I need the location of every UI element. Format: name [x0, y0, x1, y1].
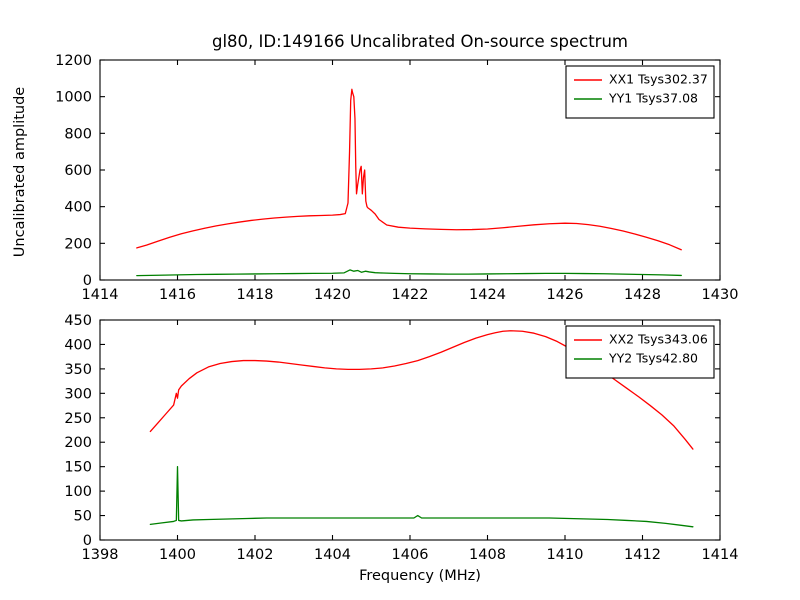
y-tick-label: 0	[83, 273, 92, 289]
x-tick-label: 1404	[314, 547, 351, 563]
plot-canvas: gl80, ID:149166 Uncalibrated On-source s…	[0, 0, 800, 600]
y-tick-label: 250	[64, 411, 92, 427]
legend-label: XX2 Tsys343.06	[609, 332, 708, 347]
x-tick-label: 1420	[314, 287, 351, 303]
x-tick-label: 1430	[702, 287, 739, 303]
y-tick-label: 100	[64, 484, 92, 500]
x-tick-label: 1412	[624, 547, 661, 563]
x-axis-label: Frequency (MHz)	[359, 568, 481, 584]
legend-label: YY1 Tsys37.08	[608, 91, 698, 106]
y-tick-label: 150	[64, 460, 92, 476]
legend-label: XX1 Tsys302.37	[609, 72, 708, 87]
legend-label: YY2 Tsys42.80	[608, 351, 698, 366]
x-tick-label: 1410	[547, 547, 584, 563]
spectrum-figure: gl80, ID:149166 Uncalibrated On-source s…	[0, 0, 800, 600]
y-tick-label: 400	[64, 200, 92, 216]
x-tick-label: 1424	[469, 287, 506, 303]
x-tick-label: 1408	[469, 547, 506, 563]
y-tick-label: 200	[64, 435, 92, 451]
x-tick-label: 1422	[392, 287, 429, 303]
y-tick-label: 350	[64, 362, 92, 378]
x-tick-label: 1406	[392, 547, 429, 563]
x-tick-label: 1414	[702, 547, 739, 563]
x-tick-label: 1400	[159, 547, 196, 563]
y-tick-label: 200	[64, 236, 92, 252]
y-tick-label: 450	[64, 313, 92, 329]
y-tick-label: 800	[64, 126, 92, 142]
x-tick-label: 1416	[159, 287, 196, 303]
x-tick-label: 1414	[82, 287, 119, 303]
y-tick-label: 0	[83, 533, 92, 549]
x-tick-label: 1418	[237, 287, 274, 303]
y-tick-label: 300	[64, 386, 92, 402]
y-tick-label: 600	[64, 163, 92, 179]
y-tick-label: 50	[74, 509, 92, 525]
page-title: gl80, ID:149166 Uncalibrated On-source s…	[212, 32, 628, 51]
y-tick-label: 1000	[55, 90, 92, 106]
y-axis-label: Uncalibrated amplitude	[12, 87, 28, 258]
x-tick-label: 1402	[237, 547, 274, 563]
x-tick-label: 1426	[547, 287, 584, 303]
y-tick-label: 1200	[55, 53, 92, 69]
x-tick-label: 1398	[82, 547, 119, 563]
y-tick-label: 400	[64, 337, 92, 353]
x-tick-label: 1428	[624, 287, 661, 303]
